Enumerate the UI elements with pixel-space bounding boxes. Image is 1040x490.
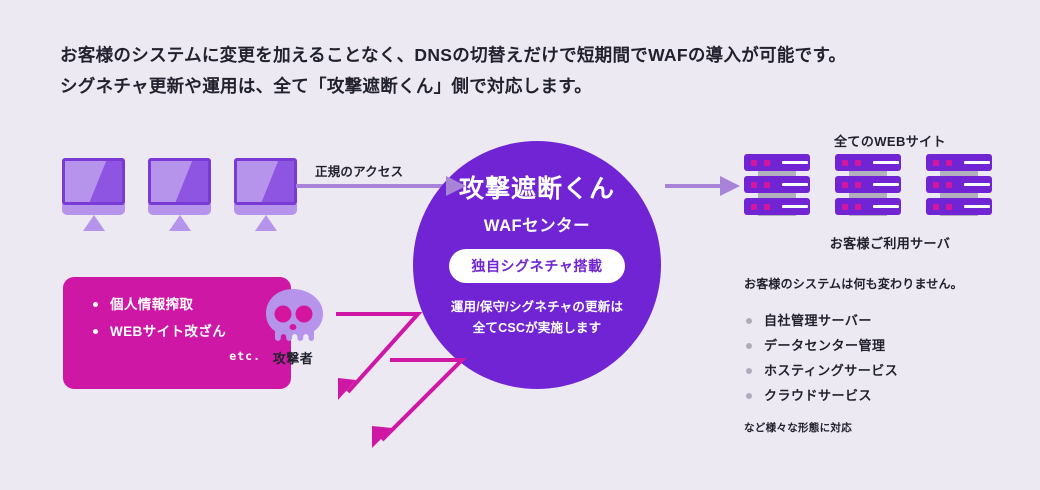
status-dot — [933, 204, 939, 210]
diagram-canvas: お客様のシステムに変更を加えることなく、DNSの切替えだけで短期間でWAFの導入… — [0, 0, 1040, 490]
attack-arrow-1-head — [338, 378, 356, 400]
monitor-stand — [255, 215, 277, 231]
attacker-label: 攻撃者 — [262, 348, 324, 367]
server-rack — [835, 154, 901, 220]
status-dot — [764, 182, 770, 188]
list-item: ホスティングサービス — [744, 358, 1034, 383]
servers-title: 全てのWEBサイト — [740, 131, 1040, 150]
status-dot — [842, 204, 848, 210]
waf-subtitle: WAFセンター — [413, 212, 661, 236]
monitor-base — [234, 204, 297, 215]
rack-bar — [744, 176, 810, 193]
list-item: クラウドサービス — [744, 383, 1034, 408]
rack-dash — [873, 161, 899, 164]
rack-dash — [873, 183, 899, 186]
server-rack — [744, 154, 810, 220]
status-dot — [855, 182, 861, 188]
status-dot — [764, 160, 770, 166]
monitor-base — [148, 204, 211, 215]
monitor-screen — [62, 158, 125, 205]
page-title: お客様のシステムに変更を加えることなく、DNSの切替えだけで短期間でWAFの導入… — [60, 40, 940, 102]
waf-note: 運用/保守/シグネチャの更新は 全てCSCが実施します — [413, 297, 661, 339]
info-heading: お客様のシステムは何も変わりません。 — [744, 275, 1034, 292]
skull-icon — [262, 288, 324, 346]
monitor-stand — [169, 215, 191, 231]
customer-info-block: お客様のシステムは何も変わりません。 自社管理サーバー データセンター管理 ホス… — [744, 275, 1034, 435]
rack-dash — [964, 205, 990, 208]
bubble-tail — [229, 307, 251, 333]
monitor-base — [62, 204, 125, 215]
monitor-screen — [234, 158, 297, 205]
rack-bar — [926, 198, 992, 215]
client-monitors-group — [62, 158, 297, 231]
threat-bubble: 個人情報搾取 WEBサイト改ざん etc. — [63, 277, 291, 389]
rack-bar — [926, 176, 992, 193]
rack-bar — [835, 198, 901, 215]
server-access-arrowhead — [720, 176, 740, 196]
status-dot — [751, 182, 757, 188]
rack-bar — [926, 154, 992, 171]
rack-dash — [873, 205, 899, 208]
status-dot — [946, 182, 952, 188]
status-dot — [946, 160, 952, 166]
rack-dash — [782, 205, 808, 208]
signature-badge: 独自シグネチャ搭載 — [449, 249, 624, 283]
rack-dash — [964, 183, 990, 186]
status-dot — [946, 204, 952, 210]
status-dot — [855, 204, 861, 210]
info-footnote: など様々な形態に対応 — [744, 420, 1034, 435]
status-dot — [933, 182, 939, 188]
attack-arrow-1 — [336, 314, 418, 392]
rack-dash — [782, 183, 808, 186]
server-rack — [926, 154, 992, 220]
status-dot — [764, 204, 770, 210]
status-dot — [842, 182, 848, 188]
status-dot — [751, 204, 757, 210]
waf-center-circle: 攻撃遮断くん WAFセンター 独自シグネチャ搭載 運用/保守/シグネチャの更新は… — [413, 141, 661, 389]
server-racks-group — [744, 154, 992, 220]
heading-line-2: シグネチャ更新や運用は、全て「攻撃遮断くん」側で対応します。 — [60, 71, 940, 102]
status-dot — [855, 160, 861, 166]
waf-note-line-2: 全てCSCが実施します — [413, 318, 661, 339]
rack-dash — [782, 161, 808, 164]
rack-bar — [835, 154, 901, 171]
list-item: 自社管理サーバー — [744, 308, 1034, 333]
attack-arrow-2-head — [372, 426, 392, 448]
servers-caption: お客様ご利用サーバ — [740, 233, 1040, 252]
rack-bar — [744, 154, 810, 171]
status-dot — [933, 160, 939, 166]
monitor-screen — [148, 158, 211, 205]
monitor-icon — [148, 158, 211, 231]
rack-bar — [835, 176, 901, 193]
attack-arrow-2 — [382, 360, 462, 440]
status-dot — [751, 160, 757, 166]
heading-line-1: お客様のシステムに変更を加えることなく、DNSの切替えだけで短期間でWAFの導入… — [60, 40, 940, 71]
rack-bar — [744, 198, 810, 215]
normal-access-label: 正規のアクセス — [315, 161, 403, 180]
status-dot — [842, 160, 848, 166]
monitor-icon — [62, 158, 125, 231]
waf-title: 攻撃遮断くん — [413, 169, 661, 205]
threat-etc: etc. — [93, 349, 261, 363]
rack-dash — [964, 161, 990, 164]
waf-note-line-1: 運用/保守/シグネチャの更新は — [413, 297, 661, 318]
monitor-stand — [83, 215, 105, 231]
monitor-icon — [234, 158, 297, 231]
list-item: データセンター管理 — [744, 333, 1034, 358]
info-list: 自社管理サーバー データセンター管理 ホスティングサービス クラウドサービス — [744, 308, 1034, 408]
